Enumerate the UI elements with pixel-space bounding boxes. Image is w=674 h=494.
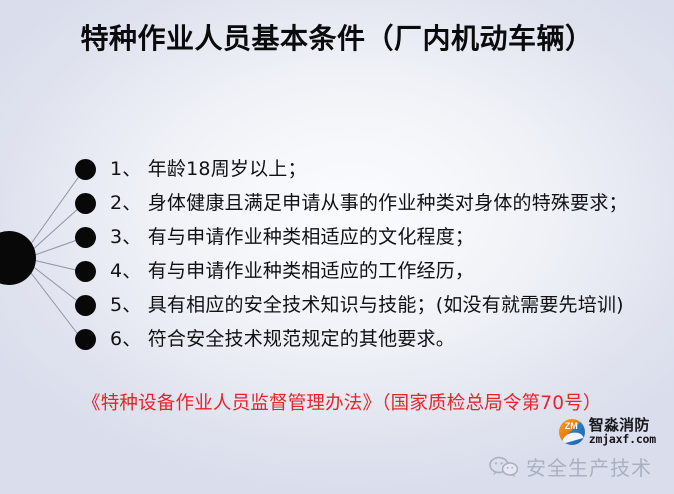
list-item-label: 4、 有与申请作业种类相适应的工作经历，: [110, 257, 474, 285]
slide-canvas: 特种作业人员基本条件（厂内机动车辆） 1、 年龄18周岁以上； 2、 身体健康且…: [0, 0, 674, 494]
list-item-label: 6、 符合安全技术规范规定的其他要求。: [110, 325, 455, 353]
brand-badge-icon: ZM: [559, 419, 585, 445]
bullet-dot-icon: [75, 159, 96, 180]
bullet-dot-icon: [75, 261, 96, 282]
bullet-dot-icon: [75, 295, 96, 316]
list-item-label: 5、 具有相应的安全技术知识与技能；(如没有就需要先培训): [110, 291, 624, 319]
bullet-dot-icon: [75, 193, 96, 214]
list-item-label: 2、 身体健康且满足申请从事的作业种类对身体的特殊要求；: [110, 189, 628, 217]
list-item-label: 1、 年龄18周岁以上；: [110, 155, 307, 183]
swoosh-shape: [560, 430, 583, 444]
watermark: 安全生产技术: [489, 452, 652, 481]
brand-text-column: 智淼消防 zmjaxf.com: [589, 418, 656, 446]
brand-badge-label: ZM: [565, 421, 578, 431]
brand-url: zmjaxf.com: [589, 434, 656, 446]
bullet-dot-icon: [75, 227, 96, 248]
legal-reference-note: 《特种设备作业人员监督管理办法》（国家质检总局令第70号）: [82, 389, 602, 415]
brand-logo: ZM 智淼消防 zmjaxf.com: [559, 418, 656, 446]
watermark-label: 安全生产技术: [526, 452, 652, 481]
bullet-dot-icon: [75, 329, 96, 350]
wechat-icon: [489, 456, 519, 478]
list-item-label: 3、 有与申请作业种类相适应的文化程度；: [110, 223, 474, 251]
